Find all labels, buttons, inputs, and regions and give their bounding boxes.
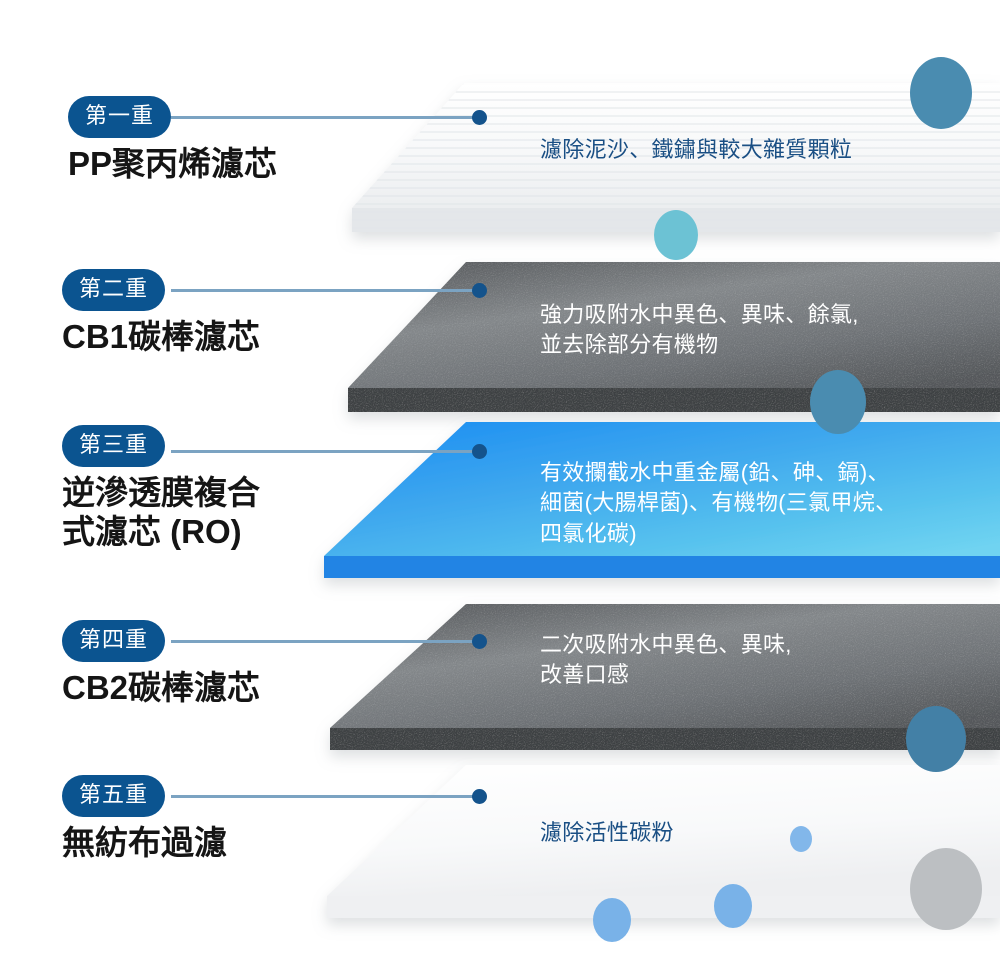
layer-badge-5: 第五重: [62, 775, 165, 817]
decor-circle-blue-bottom-a: [714, 884, 752, 928]
layer-description-5: 濾除活性碳粉: [540, 818, 960, 848]
layer-description-2: 強力吸附水中異色、異味、餘氯, 並去除部分有機物: [540, 300, 960, 361]
layer-label-2: 第二重 CB1碳棒濾芯: [0, 269, 430, 357]
layer-description-4: 二次吸附水中異色、異味, 改善口感: [540, 630, 960, 691]
connector-dot-4: [472, 634, 487, 649]
layer-title-5: 無紡布過濾: [62, 824, 430, 863]
layer-badge-3: 第三重: [62, 425, 165, 467]
decor-circle-teal-mid: [654, 210, 698, 260]
layer-description-1: 濾除泥沙、鐵鏽與較大雜質顆粒: [540, 135, 970, 165]
connector-dot-5: [472, 789, 487, 804]
connector-dot-2: [472, 283, 487, 298]
layer-label-4: 第四重 CB2碳棒濾芯: [0, 620, 430, 708]
connector-dot-3: [472, 444, 487, 459]
infographic-stage: 第一重 PP聚丙烯濾芯 第二重 CB1碳棒濾芯 第三重 逆滲透膜複合 式濾芯 (…: [0, 0, 1000, 973]
layer-label-5: 第五重 無紡布過濾: [0, 775, 430, 863]
layer-label-3: 第三重 逆滲透膜複合 式濾芯 (RO): [0, 425, 430, 552]
layer-description-3: 有效攔截水中重金屬(鉛、砷、鎘)、 細菌(大腸桿菌)、有機物(三氯甲烷、 四氯化…: [540, 458, 990, 549]
layer-title-2: CB1碳棒濾芯: [62, 318, 430, 357]
layer-title-1: PP聚丙烯濾芯: [68, 145, 430, 184]
layer-title-3: 逆滲透膜複合 式濾芯 (RO): [62, 474, 430, 552]
decor-circle-steel-layer2: [810, 370, 866, 434]
connector-dot-1: [472, 110, 487, 125]
decor-circle-gray-bottom: [910, 848, 982, 930]
layer-badge-2: 第二重: [62, 269, 165, 311]
layer-badge-1: 第一重: [68, 96, 171, 138]
decor-circle-steel-layer4: [906, 706, 966, 772]
layer-title-4: CB2碳棒濾芯: [62, 669, 430, 708]
layer-badge-4: 第四重: [62, 620, 165, 662]
decor-circle-steel-top-right: [910, 57, 972, 129]
layer-label-1: 第一重 PP聚丙烯濾芯: [0, 96, 430, 184]
decor-circle-blue-bottom-b: [593, 898, 631, 942]
